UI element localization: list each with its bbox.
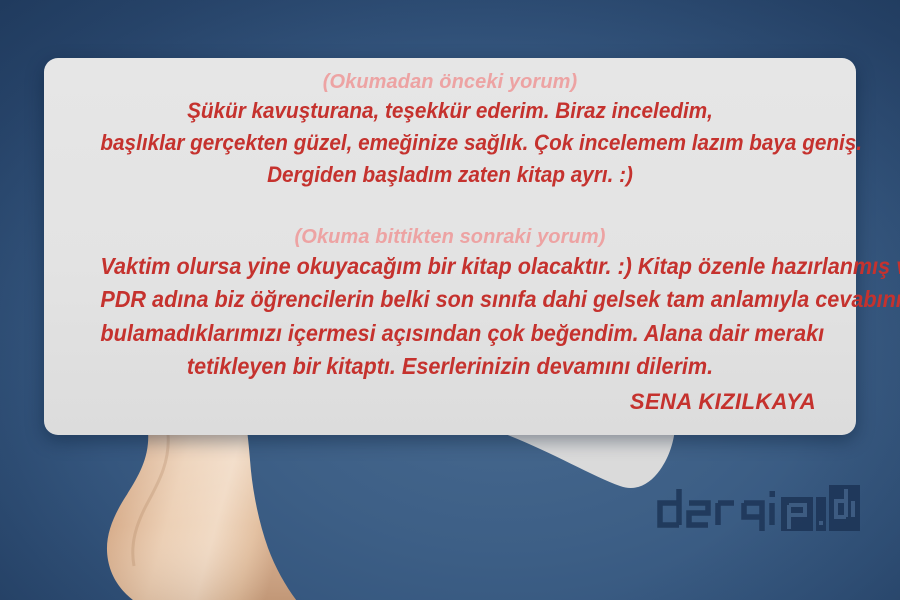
after-reading-kicker: (Okuma bittikten sonraki yorum) — [70, 225, 830, 250]
speech-bubble-tail-icon — [500, 428, 700, 498]
after-reading-line-4: tetikleyen bir kitaptı. Eserlerinizin de… — [100, 350, 799, 383]
after-reading-line-2: PDR adına biz öğrencilerin belki son sın… — [100, 283, 799, 316]
after-reading-line-3: bulamadıklarımızı içermesi açısından çok… — [100, 317, 799, 350]
after-reading-line-1: Vaktim olursa yine okuyacağım bir kitap … — [100, 250, 799, 283]
dergipdr-logo-icon — [648, 483, 860, 531]
testimonial-card: (Okumadan önceki yorum) Şükür kavuşturan… — [44, 58, 856, 435]
before-reading-line-3: Dergiden başladım zaten kitap ayrı. :) — [100, 159, 799, 191]
testimonial-graphic: (Okumadan önceki yorum) Şükür kavuşturan… — [0, 0, 900, 600]
before-reading-line-2: başlıklar gerçekten güzel, emeğinize sağ… — [100, 127, 799, 159]
signature-name: SENA KIZILKAYA — [70, 389, 816, 415]
before-reading-line-1: Şükür kavuşturana, teşekkür ederim. Bira… — [100, 95, 799, 127]
before-reading-block: (Okumadan önceki yorum) Şükür kavuşturan… — [70, 70, 830, 191]
arm-holding-icon — [0, 430, 420, 600]
before-reading-kicker: (Okumadan önceki yorum) — [70, 70, 830, 95]
after-reading-block: (Okuma bittikten sonraki yorum) Vaktim o… — [70, 225, 830, 383]
